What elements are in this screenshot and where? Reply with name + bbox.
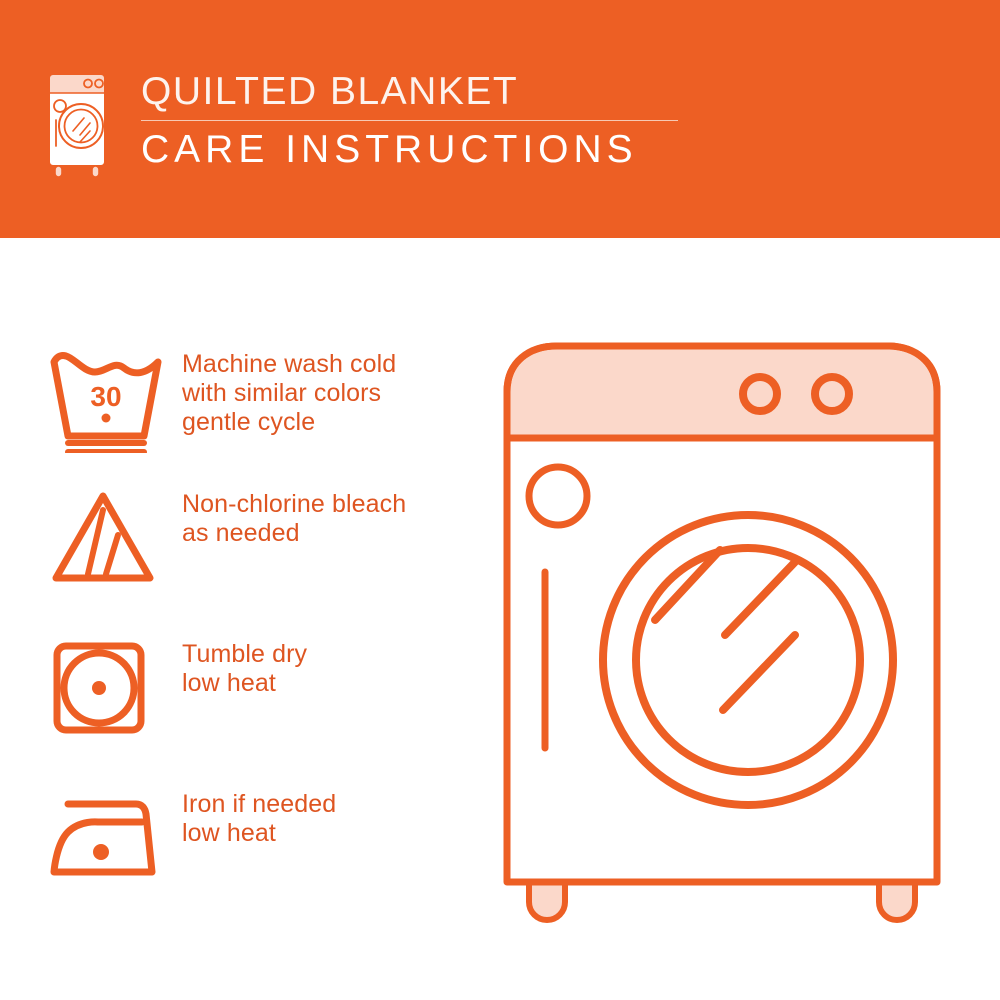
iron-line-2: low heat — [182, 819, 336, 848]
page-title-primary: QUILTED BLANKET — [141, 70, 701, 114]
control-panel — [511, 350, 934, 439]
washing-machine-icon — [44, 68, 110, 178]
list-item-iron: Iron if needed low heat — [46, 788, 486, 888]
page-title-secondary: CARE INSTRUCTIONS — [141, 127, 701, 173]
header-title-group: QUILTED BLANKET CARE INSTRUCTIONS — [141, 70, 701, 173]
triangle-non-chlorine-bleach-icon — [46, 488, 182, 588]
list-item-wash-text: Machine wash cold with similar colors ge… — [182, 348, 396, 437]
header-banner: QUILTED BLANKET CARE INSTRUCTIONS — [0, 0, 1000, 238]
dry-line-1: Tumble dry — [182, 640, 307, 669]
list-item-tumble-dry: Tumble dry low heat — [46, 638, 486, 738]
wash-temperature-label: 30 — [90, 381, 121, 412]
wash-line-3: gentle cycle — [182, 408, 396, 437]
washing-machine-illustration — [495, 330, 965, 940]
dry-line-2: low heat — [182, 669, 307, 698]
iron-line-1: Iron if needed — [182, 790, 336, 819]
list-item-wash: 30 Machine wash cold with similar colors… — [46, 348, 486, 453]
care-instruction-list: 30 Machine wash cold with similar colors… — [0, 238, 500, 1000]
wash-tub-30-gentle-icon: 30 — [46, 348, 182, 453]
wash-line-2: with similar colors — [182, 379, 396, 408]
tumble-dry-low-heat-icon — [46, 638, 182, 738]
list-item-bleach-text: Non-chlorine bleach as needed — [182, 488, 406, 548]
iron-low-heat-icon — [46, 788, 182, 888]
list-item-iron-text: Iron if needed low heat — [182, 788, 336, 848]
bleach-line-2: as needed — [182, 519, 406, 548]
title-divider — [141, 120, 678, 121]
list-item-bleach: Non-chlorine bleach as needed — [46, 488, 486, 588]
bleach-line-1: Non-chlorine bleach — [182, 490, 406, 519]
list-item-tumble-dry-text: Tumble dry low heat — [182, 638, 307, 698]
care-instructions-page: QUILTED BLANKET CARE INSTRUCTIONS 30 — [0, 0, 1000, 1000]
wash-line-1: Machine wash cold — [182, 350, 396, 379]
